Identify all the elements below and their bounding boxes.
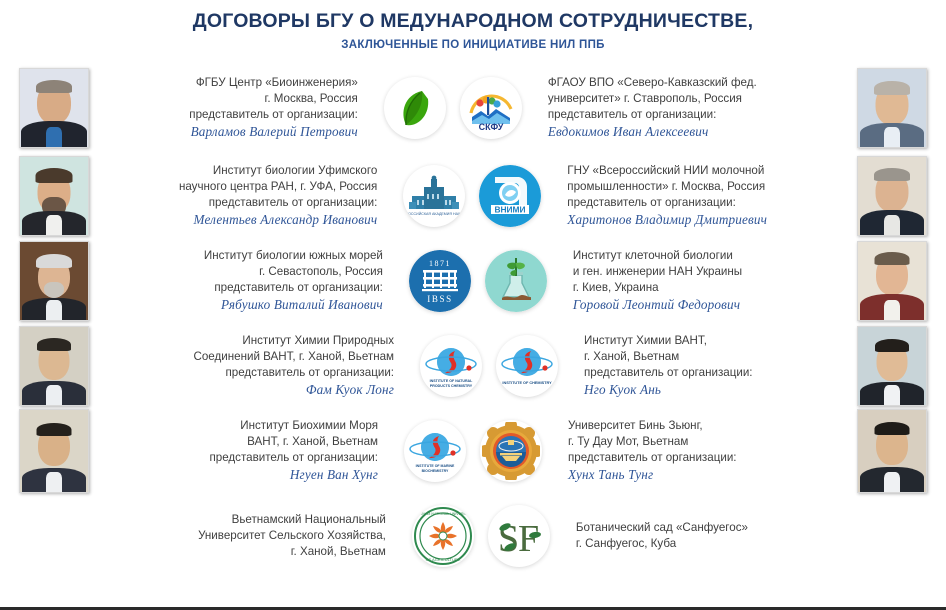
org-line: Институт Химии ВАНТ, (584, 333, 837, 349)
org-text-left: Институт Биохимии Моря ВАНТ, г. Ханой, В… (100, 418, 387, 484)
photo-cell-right (846, 241, 938, 321)
svg-text:1871: 1871 (429, 259, 451, 268)
svg-text:РОССИЙСКАЯ АКАДЕМИЯ НАУК: РОССИЙСКАЯ АКАДЕМИЯ НАУК (407, 212, 461, 216)
org-line: Университет Бинь Зьюнг, (568, 418, 837, 434)
table-row: Институт биологии Уфимского научного цен… (8, 153, 938, 238)
org-line: г. Киев, Украина (573, 280, 837, 296)
person-name: Варламов Валерий Петрович (109, 123, 358, 141)
table-row: Институт Биохимии Моря ВАНТ, г. Ханой, В… (8, 408, 938, 493)
org-line: научного центра РАН, г. УФА, Россия (109, 179, 377, 195)
table-row: Вьетнамский Национальный Университет Сел… (8, 493, 938, 579)
org-line: университет» г. Ставрополь, Россия (548, 91, 837, 107)
org-line: г. Ту Дау Мот, Вьетнам (568, 434, 837, 450)
svg-text:INSTITUTE OF CHEMISTRY: INSTITUTE OF CHEMISTRY (502, 381, 552, 385)
svg-text:VIETNAM NATIONAL UNIVERSITY: VIETNAM NATIONAL UNIVERSITY (414, 512, 472, 516)
portrait-gorovoy (857, 241, 927, 321)
org-line: г. Севастополь, Россия (109, 264, 383, 280)
logos-cell: INSTITUTE OF MARINE BIOCHEMISTRY (387, 420, 559, 482)
org-line: Институт Химии Природных (109, 333, 394, 349)
org-line: Институт клеточной биологии (573, 248, 837, 264)
portrait-haritonov (857, 156, 927, 236)
org-text-right: Университет Бинь Зьюнг, г. Ту Дау Мот, В… (559, 418, 846, 484)
rep-label: представитель от организации: (109, 365, 394, 381)
marine-biochemistry-logo: INSTITUTE OF MARINE BIOCHEMISTRY (404, 420, 466, 482)
svg-text:INSTITUTE OF NATURAL: INSTITUTE OF NATURAL (430, 379, 473, 383)
ibss-1871-logo: 1871 IBSS (409, 250, 471, 312)
org-line: Институт биологии Уфимского (109, 163, 377, 179)
rep-label: представитель от организации: (109, 450, 378, 466)
table-row: Институт Химии Природных Соединений ВАНТ… (8, 323, 938, 408)
rep-label: представитель от организации: (548, 107, 837, 123)
institute-of-chemistry-logo: INSTITUTE OF CHEMISTRY (496, 335, 558, 397)
page-title: ДОГОВОРЫ БГУ О МЕДУНАРОДНОМ СОТРУДНИЧЕСТ… (0, 10, 946, 32)
person-name: Горовой Леонтий Федорович (573, 296, 837, 314)
org-line: г. Москва, Россия (109, 91, 358, 107)
portrait-pham-quoc-long (19, 326, 89, 406)
org-text-left: Вьетнамский Национальный Университет Сел… (100, 512, 395, 560)
portrait-ngo-quoc-anh (857, 326, 927, 406)
org-line: Соединений ВАНТ, г. Ханой, Вьетнам (109, 349, 394, 365)
org-line: г. Ханой, Вьетнам (109, 544, 386, 560)
rep-label: представитель от организации: (109, 107, 358, 123)
org-text-left: Институт биологии южных морей г. Севасто… (100, 248, 392, 314)
svg-text:IBSS: IBSS (427, 294, 452, 304)
portrait-varlamov (19, 68, 89, 148)
person-name: Рябушко Виталий Иванович (109, 296, 383, 314)
svg-text:F: F (518, 518, 539, 560)
logos-cell: INSTITUTE OF NATURAL PRODUCTS CHEMISTRY … (403, 335, 575, 397)
inpc-vast-logo: INSTITUTE OF NATURAL PRODUCTS CHEMISTRY (420, 335, 482, 397)
logos-cell: СКФУ (367, 77, 539, 139)
org-line: ФГБУ Центр «Биоинженерия» (109, 75, 358, 91)
org-text-right: Институт клеточной биологии и ген. инжен… (564, 248, 846, 314)
photo-cell-right (846, 496, 938, 576)
green-leaf-logo (384, 77, 446, 139)
logos-cell: 1871 IBSS (392, 250, 564, 312)
svg-text:INSTITUTE OF MARINE: INSTITUTE OF MARINE (416, 464, 455, 468)
rep-label: представитель от организации: (568, 450, 837, 466)
slide-header: ДОГОВОРЫ БГУ О МЕДУНАРОДНОМ СОТРУДНИЧЕСТ… (0, 0, 946, 51)
org-text-right: ФГАОУ ВПО «Северо-Кавказский фед. универ… (539, 75, 846, 141)
page-subtitle: ЗАКЛЮЧЕННЫЕ ПО ИНИЦИАТИВЕ НИЛ ППБ (0, 39, 946, 51)
photo-cell-left (8, 241, 100, 321)
org-line: Университет Сельского Хозяйства, (109, 528, 386, 544)
svg-text:СКФУ: СКФУ (478, 122, 503, 132)
org-text-left: Институт биологии Уфимского научного цен… (100, 163, 386, 229)
rep-label: представитель от организации: (109, 195, 377, 211)
person-name: Нгуен Ван Хунг (109, 466, 378, 484)
partners-list: ФГБУ Центр «Биоинженерия» г. Москва, Рос… (0, 63, 946, 579)
binh-duong-university-logo (480, 420, 542, 482)
person-name: Фам Куок Лонг (109, 381, 394, 399)
table-row: Институт биологии южных морей г. Севасто… (8, 238, 938, 323)
photo-cell-left (8, 409, 100, 493)
rep-label: представитель от организации: (584, 365, 837, 381)
logos-cell: VIETNAM NATIONAL UNIVERSITY OF AGRICULTU… (395, 505, 567, 567)
person-name: Харитонов Владимир Дмитриевич (567, 211, 837, 229)
skfu-logo: СКФУ (460, 77, 522, 139)
org-line: промышленности» г. Москва, Россия (567, 179, 837, 195)
photo-cell-left (8, 326, 100, 406)
rep-label: представитель от организации: (109, 280, 383, 296)
org-line: и ген. инженерии НАН Украины (573, 264, 837, 280)
photo-cell-left (8, 496, 100, 576)
photo-cell-left (8, 156, 100, 236)
org-line: Институт Биохимии Моря (109, 418, 378, 434)
slide: ДОГОВОРЫ БГУ О МЕДУНАРОДНОМ СОТРУДНИЧЕСТ… (0, 0, 946, 610)
org-text-left: Институт Химии Природных Соединений ВАНТ… (100, 333, 403, 399)
org-text-left: ФГБУ Центр «Биоинженерия» г. Москва, Рос… (100, 75, 367, 141)
svg-text:BIOCHEMISTRY: BIOCHEMISTRY (422, 469, 449, 473)
plant-flask-logo (485, 250, 547, 312)
org-line: Институт биологии южных морей (109, 248, 383, 264)
person-name: Мелентьев Александр Иванович (109, 211, 377, 229)
vnimi-logo: ВНИМИ (479, 165, 541, 227)
svg-text:PRODUCTS CHEMISTRY: PRODUCTS CHEMISTRY (430, 384, 473, 388)
portrait-huynh-thanh-tung (857, 409, 927, 493)
photo-cell-left (8, 68, 100, 148)
org-line: г. Санфуегос, Куба (576, 536, 837, 552)
portrait-ryabushko (19, 241, 89, 321)
org-line: ВАНТ, г. Ханой, Вьетнам (109, 434, 378, 450)
vnua-logo: VIETNAM NATIONAL UNIVERSITY OF AGRICULTU… (412, 505, 474, 567)
photo-cell-right (846, 156, 938, 236)
svg-text:OF AGRICULTURE: OF AGRICULTURE (425, 557, 460, 562)
person-name: Нго Куок Ань (584, 381, 837, 399)
photo-cell-right (846, 409, 938, 493)
org-line: г. Ханой, Вьетнам (584, 349, 837, 365)
person-name: Хунх Тань Тунг (568, 466, 837, 484)
org-text-right: Институт Химии ВАНТ, г. Ханой, Вьетнам п… (575, 333, 846, 399)
org-line: ФГАОУ ВПО «Северо-Кавказский фед. (548, 75, 837, 91)
ran-building-logo: РОССИЙСКАЯ АКАДЕМИЯ НАУК (403, 165, 465, 227)
org-text-right: ГНУ «Всероссийский НИИ молочной промышле… (558, 163, 846, 229)
svg-text:ВНИМИ: ВНИМИ (495, 204, 526, 214)
photo-cell-right (846, 326, 938, 406)
rep-label: представитель от организации: (567, 195, 837, 211)
logos-cell: РОССИЙСКАЯ АКАДЕМИЯ НАУК ВНИМИ (386, 165, 558, 227)
org-line: Вьетнамский Национальный (109, 512, 386, 528)
person-name: Евдокимов Иван Алексеевич (548, 123, 837, 141)
sf-monogram-logo: S F (488, 505, 550, 567)
org-line: Ботанический сад «Санфуегос» (576, 520, 837, 536)
table-row: ФГБУ Центр «Биоинженерия» г. Москва, Рос… (8, 63, 938, 153)
portrait-evdokimov (857, 68, 927, 148)
photo-cell-right (846, 68, 938, 148)
portrait-melentev (19, 156, 89, 236)
org-text-right: Ботанический сад «Санфуегос» г. Санфуего… (567, 520, 846, 552)
org-line: ГНУ «Всероссийский НИИ молочной (567, 163, 837, 179)
portrait-nguyen-van-hung (19, 409, 89, 493)
